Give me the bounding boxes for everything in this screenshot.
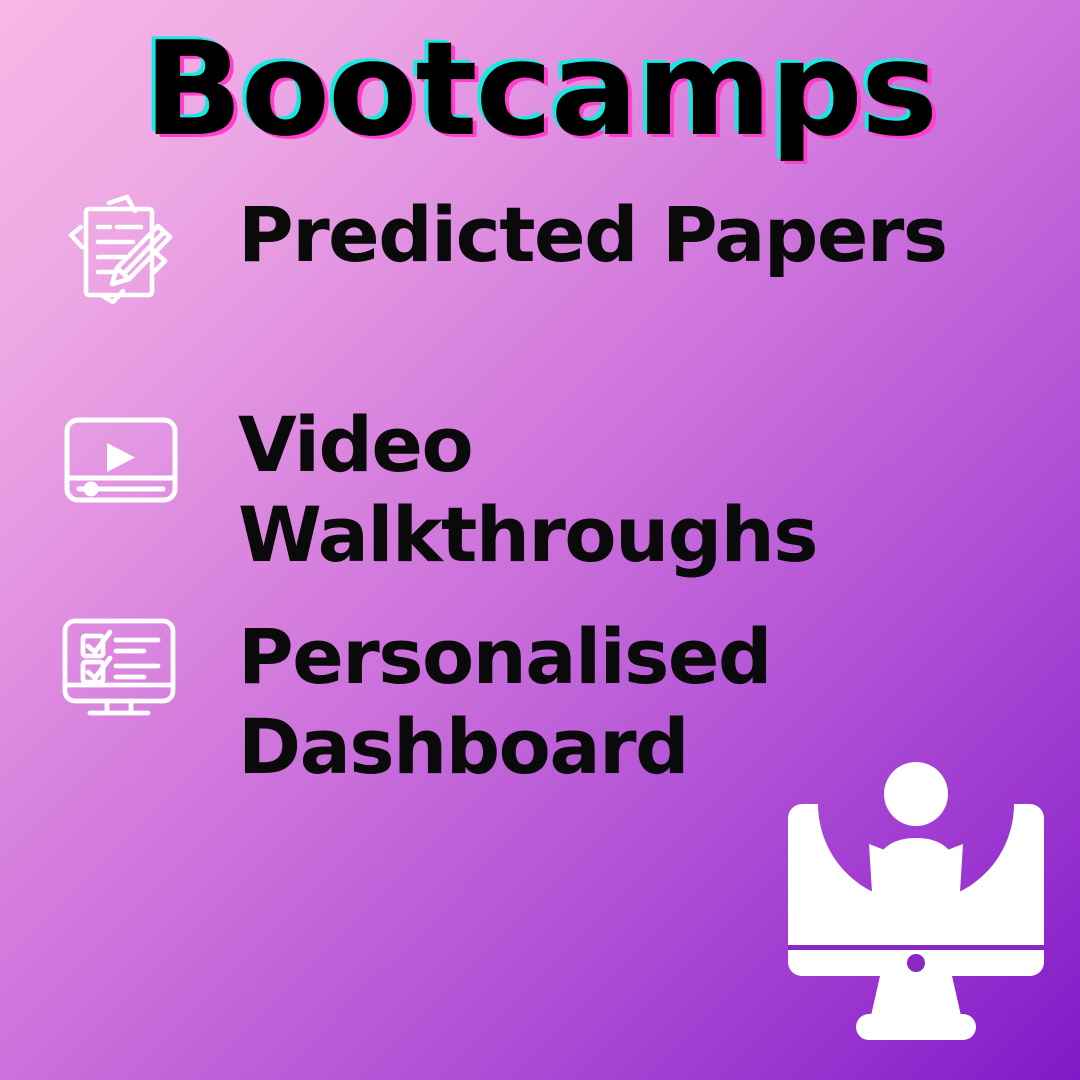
feature-row-predicted-papers: Predicted Papers bbox=[44, 190, 1064, 310]
monitor-stand-neck bbox=[870, 976, 962, 1020]
icon-container bbox=[44, 190, 194, 310]
icon-container bbox=[44, 400, 194, 520]
power-indicator-dot bbox=[907, 954, 925, 972]
poster-canvas: Bootcamps bbox=[0, 0, 1080, 1080]
scrubber-knob-icon bbox=[84, 482, 99, 497]
page-title: Bootcamps bbox=[0, 24, 1080, 154]
feature-label: Predicted Papers bbox=[194, 190, 1064, 280]
play-triangle-icon bbox=[107, 443, 135, 472]
monitor-checklist-icon bbox=[52, 613, 186, 723]
documents-pencil-icon bbox=[53, 191, 185, 309]
feature-label: Video Walkthroughs bbox=[194, 400, 1064, 579]
feature-row-video-walkthroughs: Video Walkthroughs bbox=[44, 400, 1064, 579]
reader-head bbox=[884, 762, 948, 826]
icon-container bbox=[44, 608, 194, 728]
video-player-icon bbox=[53, 408, 185, 512]
elearning-monitor-reader-logo bbox=[766, 752, 1066, 1052]
bezel-divider bbox=[788, 945, 1044, 950]
monitor-stand-base bbox=[856, 1014, 976, 1040]
